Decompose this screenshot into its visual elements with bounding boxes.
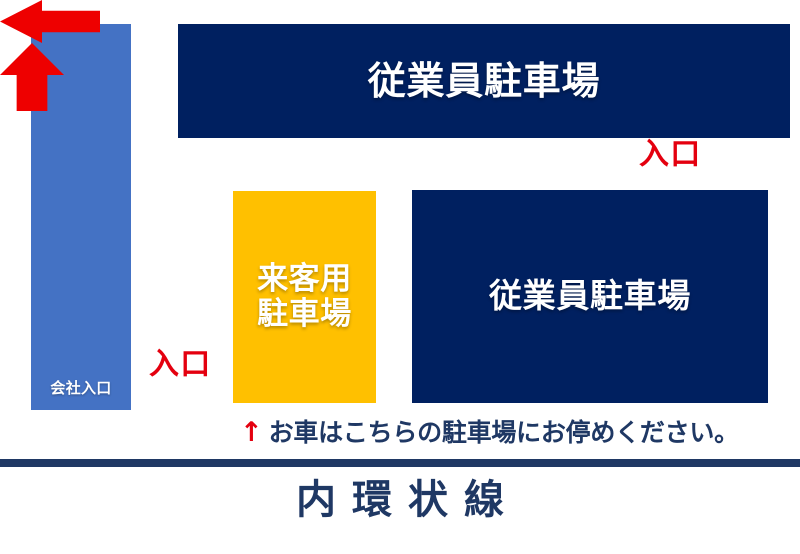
entrance-label-bottom: 入口 [149,350,211,380]
entrance-label-right: 入口 [639,140,701,170]
employee-parking-lot-right: 従業員駐車場 [412,190,768,403]
employee-parking-lot-top-label: 従業員駐車場 [368,60,601,103]
employee-parking-lot-right-label: 従業員駐車場 [489,278,691,315]
road-name-label: 内環状線 [0,478,800,522]
parking-instruction-text: お車はこちらの駐車場にお停めください。 [269,420,739,445]
up-arrow-icon: ↑ [240,419,263,446]
visitor-parking-lot: 来客用 駐車場 [233,191,376,403]
parking-lot-map: 従業員駐車場 従業員駐車場 来客用 駐車場 会社入口 入口 入口 ↑ お車はこち… [0,0,800,554]
parking-instruction: ↑ お車はこちらの駐車場にお停めください。 [240,419,739,446]
road-line [0,459,800,467]
visitor-parking-lot-label: 来客用 駐車場 [257,262,352,331]
company-entrance-label: 会社入口 [50,377,111,398]
employee-parking-lot-top: 従業員駐車場 [178,24,790,138]
